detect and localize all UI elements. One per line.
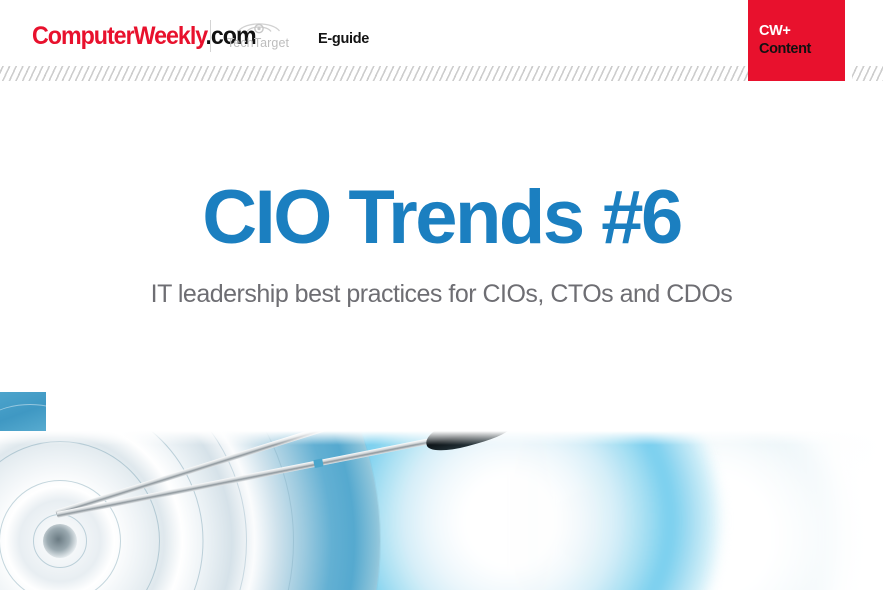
striped-band-badge-overlay — [748, 66, 845, 81]
eguide-label: E-guide — [318, 31, 369, 47]
hero-blue-accent-block — [0, 392, 46, 434]
bullseye-center — [43, 524, 77, 558]
hero-image — [0, 381, 883, 590]
title-area: CIO Trends #6 IT leadership best practic… — [0, 81, 883, 381]
target-scene — [0, 431, 883, 590]
techtarget-logo[interactable]: TechTarget — [219, 20, 297, 54]
badge-line-2: Content — [759, 42, 811, 57]
eye-icon — [237, 20, 281, 35]
header-divider — [210, 20, 211, 52]
striped-band-right-gap — [845, 66, 852, 81]
badge-line-1: CW+ — [759, 24, 790, 39]
page-subtitle: IT leadership best practices for CIOs, C… — [0, 279, 883, 309]
techtarget-name: TechTarget — [219, 36, 297, 50]
e-guide-cover-page: ComputerWeekly.com TechTarget E-guide CW… — [0, 0, 883, 590]
brand-primary-text: ComputerWeekly — [32, 22, 205, 50]
arrow-accent-band — [313, 458, 323, 468]
page-title: CIO Trends #6 — [0, 180, 883, 256]
